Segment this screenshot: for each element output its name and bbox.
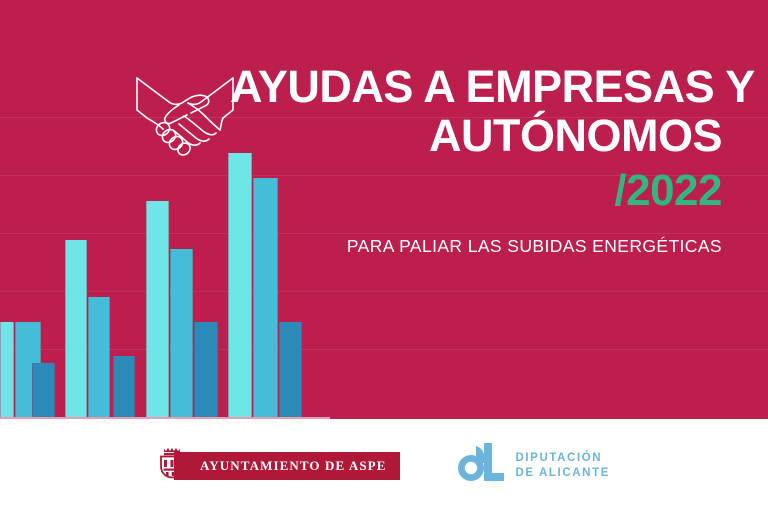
bar-12 <box>279 322 302 418</box>
year-label: /2022 <box>230 166 722 216</box>
bar-4 <box>65 240 87 418</box>
diputacion-text: DIPUTACIÓN DE ALICANTE <box>515 451 609 481</box>
handshake-icon <box>135 72 235 156</box>
poster-canvas: AYUDAS A EMPRESAS Y AUTÓNOMOS /2022 PARA… <box>0 0 768 512</box>
aspe-label: AYUNTAMIENTO DE ASPE <box>174 452 400 480</box>
footer-logos: AYUNTAMIENTO DE ASPE DIPUTACIÓN DE ALICA… <box>0 419 768 512</box>
diputacion-line-2: DE ALICANTE <box>515 466 609 481</box>
subtitle: PARA PALIAR LAS SUBIDAS ENERGÉTICAS <box>230 236 722 257</box>
title-line-2: AUTÓNOMOS <box>230 111 722 160</box>
bar-9 <box>194 322 218 418</box>
bar-5 <box>88 297 110 418</box>
bar-7 <box>146 201 169 418</box>
title-block: AYUDAS A EMPRESAS Y AUTÓNOMOS /2022 PARA… <box>230 62 722 257</box>
diputacion-alicante-monogram-icon <box>458 442 506 489</box>
title-line-1: AYUDAS A EMPRESAS Y <box>230 62 722 111</box>
bar-8 <box>170 249 193 418</box>
diputacion-de-alicante-logo[interactable]: DIPUTACIÓN DE ALICANTE <box>458 442 609 489</box>
bar-3 <box>32 363 55 418</box>
diputacion-line-1: DIPUTACIÓN <box>515 451 609 466</box>
bar-6 <box>113 356 135 418</box>
hero-panel: AYUDAS A EMPRESAS Y AUTÓNOMOS /2022 PARA… <box>0 0 768 419</box>
ayuntamiento-de-aspe-logo[interactable]: AYUNTAMIENTO DE ASPE <box>158 446 400 485</box>
bar-1 <box>0 322 14 418</box>
